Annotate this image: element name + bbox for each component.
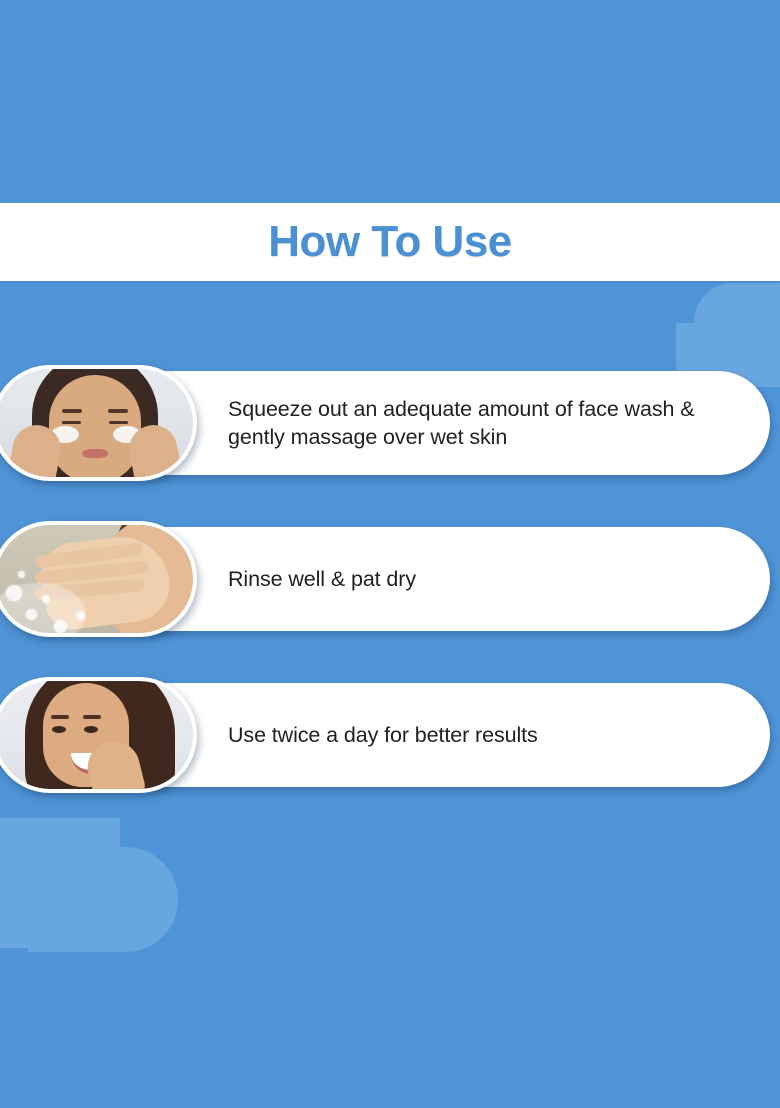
thumbnail-image-3 <box>0 681 193 789</box>
steps-list: Squeeze out an adequate amount of face w… <box>0 365 780 833</box>
step-thumbnail-2 <box>0 521 197 637</box>
thumbnail-image-2 <box>0 525 193 633</box>
step-thumbnail-1 <box>0 365 197 481</box>
step-item: Rinse well & pat dry <box>0 521 780 637</box>
step-text: Use twice a day for better results <box>228 677 740 793</box>
how-to-use-page: How To Use <box>0 0 780 1108</box>
step-text: Squeeze out an adequate amount of face w… <box>228 365 740 481</box>
step-item: Squeeze out an adequate amount of face w… <box>0 365 780 481</box>
title-band: How To Use <box>0 203 780 281</box>
decor-shape-top-right-circle <box>694 283 772 361</box>
step-item: Use twice a day for better results <box>0 677 780 793</box>
bottom-spacer <box>0 818 780 1108</box>
step-thumbnail-3 <box>0 677 197 793</box>
thumbnail-image-1 <box>0 369 193 477</box>
page-title: How To Use <box>268 220 512 264</box>
step-text: Rinse well & pat dry <box>228 521 740 637</box>
